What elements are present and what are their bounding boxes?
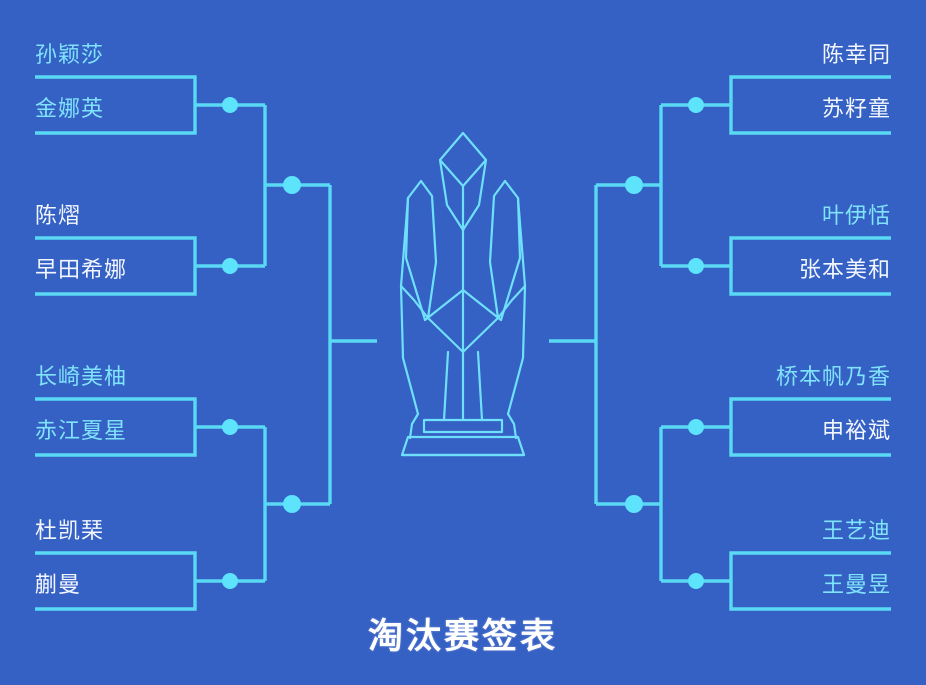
right-node-r2-4 xyxy=(688,573,704,589)
left-match-3-top-player[interactable]: 长崎美柚 xyxy=(35,366,127,388)
left-node-r2-1 xyxy=(222,97,238,113)
left-node-sf-top xyxy=(283,176,301,194)
left-node-r2-3 xyxy=(222,419,238,435)
right-node-r2-2 xyxy=(688,258,704,274)
right-node-r2-1 xyxy=(688,97,704,113)
left-match-1-top-player[interactable]: 孙颖莎 xyxy=(35,44,104,66)
right-match-4-top-player[interactable]: 王艺迪 xyxy=(822,520,891,542)
trophy-icon xyxy=(401,133,525,455)
right-match-3-top-player[interactable]: 桥本帆乃香 xyxy=(776,366,891,388)
bracket-lines xyxy=(0,0,926,685)
right-match-2-top-player[interactable]: 叶伊恬 xyxy=(822,205,891,227)
right-node-r2-3 xyxy=(688,419,704,435)
left-node-r2-4 xyxy=(222,573,238,589)
bracket-stage: 孙颖莎 金娜英 陈熠 早田希娜 长崎美柚 赤江夏星 杜凯琹 蒯曼 陈幸同 苏籽童… xyxy=(0,0,926,685)
left-match-4-top-player[interactable]: 杜凯琹 xyxy=(35,520,104,542)
left-match-4-bottom-player[interactable]: 蒯曼 xyxy=(35,574,81,596)
right-match-1-bottom-player[interactable]: 苏籽童 xyxy=(822,98,891,120)
left-match-1-bottom-player[interactable]: 金娜英 xyxy=(35,98,104,120)
left-node-r2-2 xyxy=(222,258,238,274)
right-match-4-bottom-player[interactable]: 王曼昱 xyxy=(822,574,891,596)
right-match-1-top-player[interactable]: 陈幸同 xyxy=(822,44,891,66)
right-node-sf-bottom xyxy=(625,495,643,513)
page-title: 淘汰赛签表 xyxy=(0,608,926,659)
right-match-3-bottom-player[interactable]: 申裕斌 xyxy=(822,420,891,442)
right-node-sf-top xyxy=(625,176,643,194)
left-match-3-bottom-player[interactable]: 赤江夏星 xyxy=(35,420,127,442)
right-match-2-bottom-player[interactable]: 张本美和 xyxy=(799,259,891,281)
left-match-2-top-player[interactable]: 陈熠 xyxy=(35,205,81,227)
left-match-2-bottom-player[interactable]: 早田希娜 xyxy=(35,259,127,281)
left-node-sf-bottom xyxy=(283,495,301,513)
